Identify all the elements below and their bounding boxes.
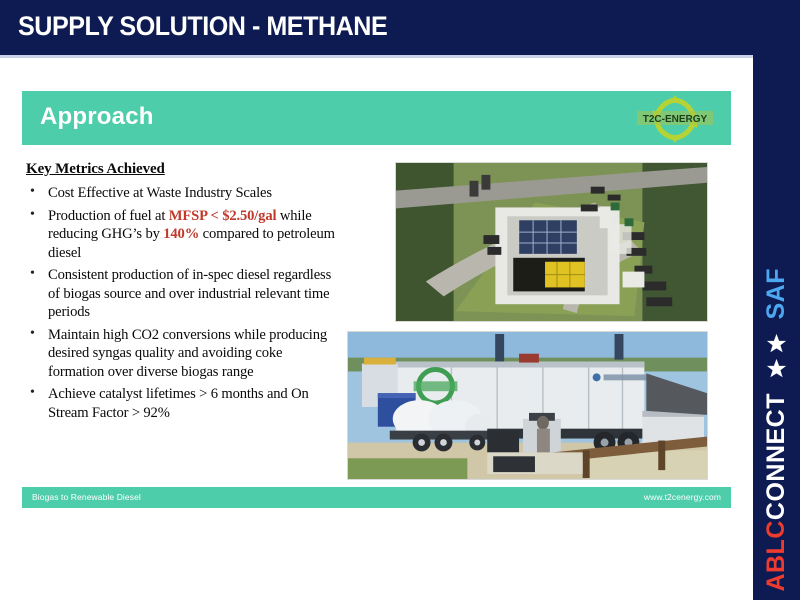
page-title: SUPPLY SOLUTION - METHANE	[18, 11, 387, 42]
t2c-logo-text: T2C-ENERGY	[643, 114, 708, 125]
star-icon	[766, 358, 787, 379]
bullet-text: Production of fuel at MFSP < $2.50/gal w…	[48, 208, 335, 261]
ablc-connect-wordmark: ABLCCONNECT	[764, 393, 789, 592]
section-header-label: Approach	[40, 103, 154, 131]
key-metrics-block: Key Metrics Achieved Cost Effective at W…	[26, 161, 336, 426]
connect-label: CONNECT	[762, 393, 790, 520]
key-metrics-heading: Key Metrics Achieved	[26, 161, 336, 178]
slide-content-card: Approach T2C-ENERGY	[0, 58, 753, 600]
star-icon	[766, 333, 787, 354]
list-item: Maintain high CO2 conversions while prod…	[26, 326, 336, 382]
mobile-plant-photo	[347, 331, 708, 480]
approach-header-band: Approach T2C-ENERGY	[22, 91, 731, 145]
slide-title-bar: SUPPLY SOLUTION - METHANE	[0, 0, 800, 55]
t2c-energy-logo: T2C-ENERGY	[627, 93, 723, 143]
list-item: Achieve catalyst lifetimes > 6 months an…	[26, 385, 336, 422]
aerial-facility-photo	[395, 162, 708, 322]
slide-footer-band: Biogas to Renewable Diesel www.t2cenergy…	[22, 487, 731, 508]
key-metrics-list: Cost Effective at Waste Industry Scales …	[26, 184, 336, 422]
list-item: Production of fuel at MFSP < $2.50/gal w…	[26, 207, 336, 263]
footer-website-url: www.t2cenergy.com	[644, 492, 721, 502]
footer-tagline: Biogas to Renewable Diesel	[32, 492, 141, 502]
bullet-text: Consistent production of in-spec diesel …	[48, 267, 331, 320]
list-item: Cost Effective at Waste Industry Scales	[26, 184, 336, 203]
event-branding-rail: ABLCCONNECT SAF	[753, 0, 800, 600]
ablc-label: ABLC	[762, 521, 790, 592]
bullet-text: Achieve catalyst lifetimes > 6 months an…	[48, 386, 309, 421]
bullet-text: Maintain high CO2 conversions while prod…	[48, 327, 327, 380]
rail-star-group	[766, 333, 787, 379]
bullet-text: Cost Effective at Waste Industry Scales	[48, 185, 272, 201]
list-item: Consistent production of in-spec diesel …	[26, 266, 336, 322]
saf-label: SAF	[764, 268, 789, 320]
